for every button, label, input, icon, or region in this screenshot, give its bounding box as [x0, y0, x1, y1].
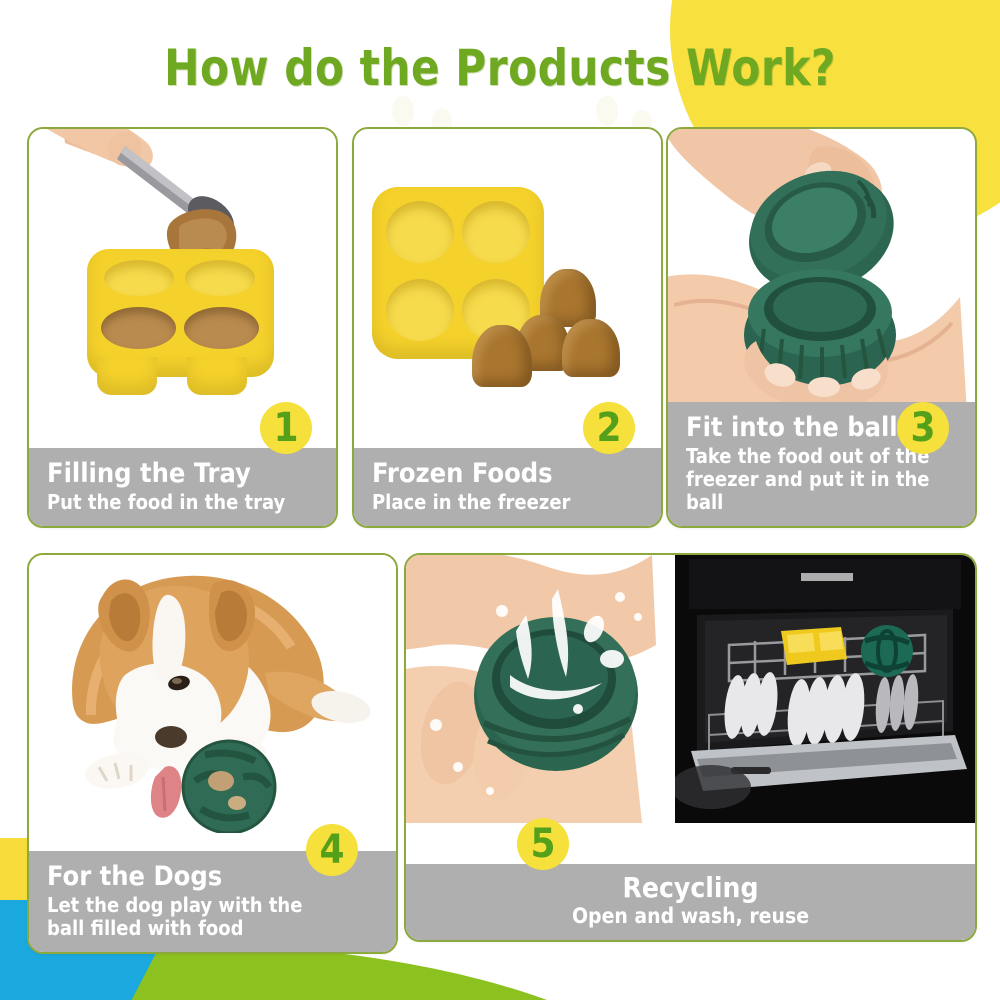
step-card-1: Filling the Tray Put the food in the tra…: [27, 127, 338, 528]
page-title: How do the Products Work?: [30, 38, 970, 98]
step-3-photo: [668, 129, 975, 417]
step-1-subtext: Put the food in the tray: [47, 491, 322, 514]
infographic-canvas: How do the Products Work?: [0, 0, 1000, 1000]
tray-leg-right: [187, 357, 247, 395]
step-5-heading: Recycling: [420, 872, 961, 903]
step-2-caption: Frozen Foods Place in the freezer: [354, 448, 661, 526]
step-badge-3: 3: [897, 402, 949, 454]
decor-paw-print: [596, 96, 618, 126]
dog-with-ball-illustration: [29, 555, 391, 833]
frozen-food-puck: [562, 319, 620, 377]
step-badge-1: 1: [260, 402, 312, 454]
rinsing-ball-illustration: [406, 555, 676, 823]
step-badge-5: 5: [517, 818, 569, 870]
step-4-photo: [29, 555, 396, 833]
step-card-2: Frozen Foods Place in the freezer: [352, 127, 663, 528]
step-1-photo: [29, 129, 336, 424]
tray-cavity-empty: [462, 201, 530, 263]
tray-cavity-filled: [101, 307, 176, 349]
step-card-3: Fit into the ball Take the food out of t…: [666, 127, 977, 528]
dishwasher-illustration: [675, 555, 975, 823]
step-2-subtext: Place in the freezer: [372, 491, 647, 514]
tray-cavity-empty: [104, 260, 174, 296]
hands-holding-ball-halves-illustration: [668, 129, 970, 417]
step-1-caption: Filling the Tray Put the food in the tra…: [29, 448, 336, 526]
step-5-subtext: Open and wash, reuse: [420, 905, 961, 928]
tray-leg-left: [97, 357, 157, 395]
tray-cavity-empty: [185, 260, 255, 296]
step-card-5: Recycling Open and wash, reuse: [404, 553, 977, 942]
frozen-food-puck: [472, 325, 532, 387]
step-card-4: For the Dogs Let the dog play with theba…: [27, 553, 398, 954]
step-badge-4: 4: [306, 824, 358, 876]
step-5-caption: Recycling Open and wash, reuse: [406, 864, 975, 940]
step-1-heading: Filling the Tray: [47, 458, 322, 489]
tray-cavity-filled: [184, 307, 259, 349]
tray-cavity-empty: [386, 201, 454, 263]
tray-cavity-empty: [386, 279, 454, 341]
step-5-photo: [406, 555, 975, 823]
decor-paw-print: [392, 96, 414, 126]
step-2-heading: Frozen Foods: [372, 458, 647, 489]
step-3-subtext: Take the food out of thefreezer and put …: [686, 445, 961, 514]
step-2-photo: [354, 129, 661, 424]
step-badge-2: 2: [583, 402, 635, 454]
step-4-subtext: Let the dog play with theball filled wit…: [47, 894, 382, 940]
